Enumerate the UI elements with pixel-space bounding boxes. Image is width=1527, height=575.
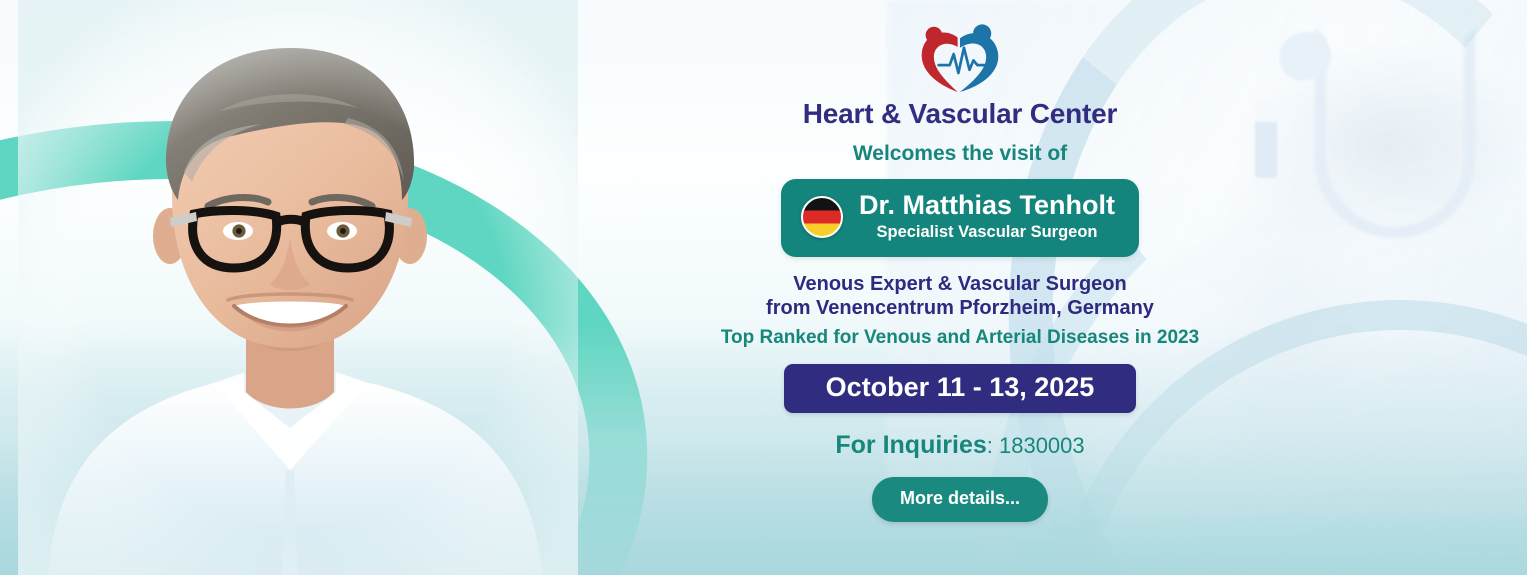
inquiries-line: For Inquiries: 1830003 — [835, 431, 1084, 460]
guest-name: Dr. Matthias Tenholt — [859, 190, 1115, 220]
guest-name-badge: Dr. Matthias Tenholt Specialist Vascular… — [781, 179, 1139, 257]
event-announcement-banner: Heart & Vascular Center Welcomes the vis… — [0, 0, 1527, 575]
inquiries-number[interactable]: : 1830003 — [987, 433, 1085, 458]
more-details-button[interactable]: More details... — [872, 477, 1048, 522]
event-dates-badge: October 11 - 13, 2025 — [784, 364, 1137, 413]
guest-role: Specialist Vascular Surgeon — [859, 222, 1115, 243]
guest-details: Dr. Matthias Tenholt Specialist Vascular… — [859, 190, 1115, 244]
announcement-content: Heart & Vascular Center Welcomes the vis… — [700, 0, 1220, 575]
description-line-2: from Venencentrum Pforzheim, Germany — [721, 296, 1199, 320]
guest-description: Venous Expert & Vascular Surgeon from Ve… — [721, 272, 1199, 351]
inquiries-label: For Inquiries — [835, 431, 986, 459]
avatar — [18, 0, 578, 575]
welcome-text: Welcomes the visit of — [853, 142, 1067, 166]
description-line-1: Venous Expert & Vascular Surgeon — [721, 272, 1199, 296]
heart-people-ecg-logo-icon — [912, 24, 1008, 92]
german-flag-icon — [801, 196, 843, 238]
page-title: Heart & Vascular Center — [803, 98, 1117, 130]
description-ranking: Top Ranked for Venous and Arterial Disea… — [721, 326, 1199, 351]
